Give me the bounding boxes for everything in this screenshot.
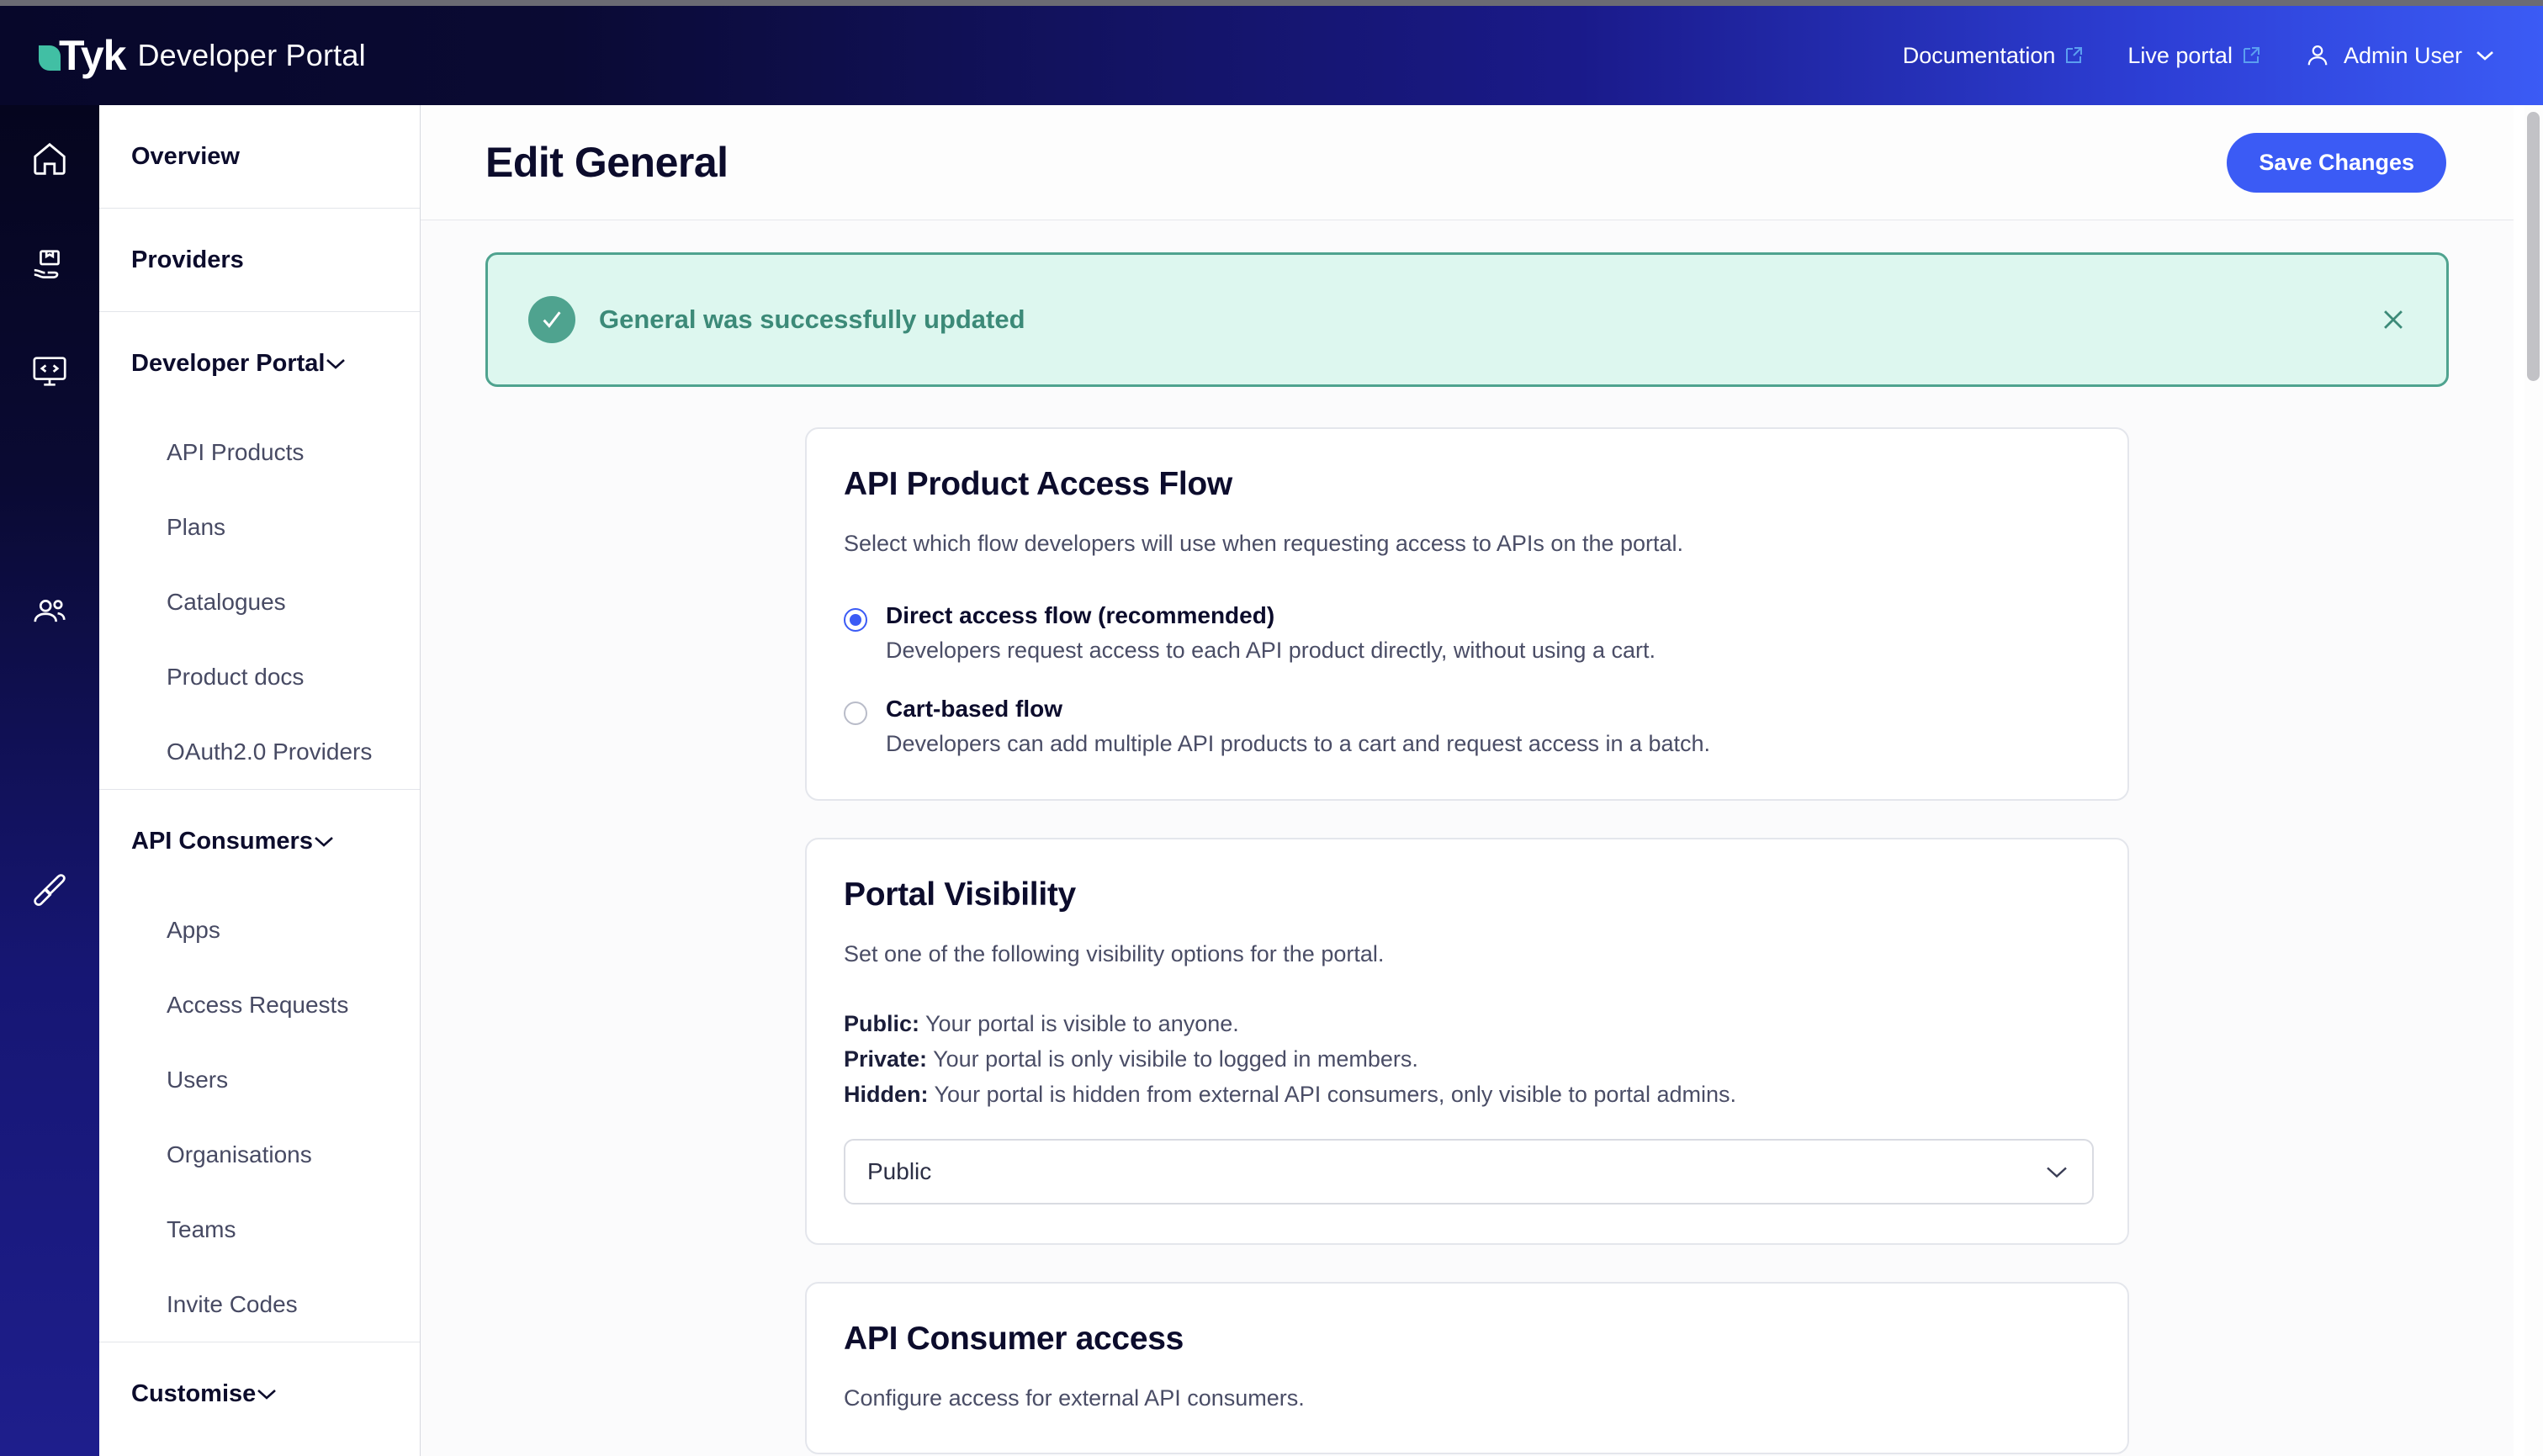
chevron-down-icon — [313, 834, 335, 848]
sidebar-nav: Overview Providers Developer Portal API … — [99, 105, 421, 1456]
sidebar-item-label: Plans — [167, 514, 225, 541]
sidebar-item-developer-portal[interactable]: Developer Portal — [99, 312, 420, 415]
visibility-line-hidden: Hidden: Your portal is hidden from exter… — [844, 1077, 2090, 1113]
documentation-label: Documentation — [1903, 43, 2056, 69]
sidebar-item-plans[interactable]: Plans — [99, 490, 420, 564]
portal-visibility-select[interactable]: Public — [844, 1139, 2094, 1205]
card-api-product-access-flow: API Product Access Flow Select which flo… — [805, 427, 2129, 801]
radio-help-text: Developers request access to each API pr… — [886, 638, 1656, 664]
vertical-scrollbar-track[interactable] — [2524, 105, 2543, 1456]
sidebar-item-users[interactable]: Users — [99, 1042, 420, 1117]
card-description: Set one of the following visibility opti… — [844, 939, 2090, 969]
radio-option-body: Direct access flow (recommended) Develop… — [886, 602, 1656, 664]
sidebar-item-product-docs[interactable]: Product docs — [99, 639, 420, 714]
sidebar-item-catalogues[interactable]: Catalogues — [99, 564, 420, 639]
check-circle-icon — [528, 296, 575, 343]
vertical-scrollbar-thumb[interactable] — [2527, 112, 2540, 381]
sidebar-item-label: Providers — [131, 246, 244, 274]
radio-option-cart-based-flow[interactable]: Cart-based flow Developers can add multi… — [844, 696, 2090, 757]
sidebar-item-customise[interactable]: Customise — [99, 1342, 420, 1445]
card-description: Select which flow developers will use wh… — [844, 528, 2090, 559]
sidebar-item-label: API Consumers — [131, 828, 313, 855]
sidebar-item-api-products[interactable]: API Products — [99, 415, 420, 490]
sidebar-item-invite-codes[interactable]: Invite Codes — [99, 1267, 420, 1342]
visibility-term-private: Private: — [844, 1046, 927, 1072]
main-content: Edit General Save Changes General was su… — [421, 105, 2514, 1456]
visibility-term-public: Public: — [844, 1011, 919, 1036]
chevron-down-icon — [325, 357, 347, 370]
portal-visibility-selected-value: Public — [867, 1158, 931, 1185]
visibility-text-hidden: Your portal is hidden from external API … — [929, 1082, 1737, 1107]
success-alert-message: General was successfully updated — [599, 304, 1025, 335]
sidebar-item-apps[interactable]: Apps — [99, 892, 420, 967]
radio-option-direct-access-flow[interactable]: Direct access flow (recommended) Develop… — [844, 602, 2090, 664]
nav-group-api-consumers: API Consumers Apps Access Requests Users… — [99, 790, 420, 1342]
sidebar-item-label: Catalogues — [167, 589, 286, 616]
sidebar-item-label: API Products — [167, 439, 304, 466]
tyk-wordmark: Tyk — [59, 34, 125, 77]
sidebar-item-label: Users — [167, 1067, 228, 1093]
external-link-icon — [2064, 45, 2084, 66]
radio-button-direct-access-flow[interactable] — [844, 608, 867, 632]
sidebar-item-api-consumers[interactable]: API Consumers — [99, 790, 420, 892]
radio-button-cart-based-flow[interactable] — [844, 702, 867, 725]
nav-group-developer-portal: Developer Portal API Products Plans Cata… — [99, 312, 420, 790]
live-portal-link[interactable]: Live portal — [2127, 43, 2261, 69]
browser-chrome-strip — [0, 0, 2543, 6]
card-title: Portal Visibility — [844, 876, 2090, 913]
app-header: Tyk Developer Portal Documentation Live … — [0, 6, 2543, 105]
documentation-link[interactable]: Documentation — [1903, 43, 2085, 69]
sidebar-item-themes[interactable]: Themes — [99, 1445, 420, 1456]
visibility-text-private: Your portal is only visibile to logged i… — [927, 1046, 1418, 1072]
sidebar-item-access-requests[interactable]: Access Requests — [99, 967, 420, 1042]
visibility-text-public: Your portal is visible to anyone. — [919, 1011, 1239, 1036]
visibility-line-private: Private: Your portal is only visibile to… — [844, 1042, 2090, 1077]
user-menu[interactable]: Admin User — [2305, 43, 2494, 69]
settings-cards: API Product Access Flow Select which flo… — [421, 387, 2514, 1454]
header-actions: Documentation Live portal Admin User — [1903, 43, 2494, 69]
sidebar-item-label: Teams — [167, 1216, 236, 1243]
sidebar-item-label: Customise — [131, 1380, 256, 1408]
radio-help-text: Developers can add multiple API products… — [886, 731, 1710, 757]
sidebar-item-label: Overview — [131, 143, 240, 171]
radio-option-body: Cart-based flow Developers can add multi… — [886, 696, 1710, 757]
sidebar-item-teams[interactable]: Teams — [99, 1192, 420, 1267]
chevron-down-icon — [256, 1387, 278, 1400]
package-hand-icon[interactable] — [0, 213, 99, 318]
visibility-line-public: Public: Your portal is visible to anyone… — [844, 1007, 2090, 1042]
person-icon — [2305, 43, 2330, 68]
nav-group-customise: Customise Themes — [99, 1342, 420, 1456]
brand-subtitle: Developer Portal — [137, 38, 365, 73]
page-title: Edit General — [485, 138, 728, 187]
brand-logo[interactable]: Tyk Developer Portal — [39, 34, 366, 77]
monitor-code-icon[interactable] — [0, 318, 99, 423]
sidebar-item-label: Developer Portal — [131, 350, 325, 378]
sidebar-item-providers[interactable]: Providers — [99, 209, 420, 311]
access-flow-radio-group: Direct access flow (recommended) Develop… — [844, 602, 2090, 757]
card-description: Configure access for external API consum… — [844, 1383, 2090, 1413]
visibility-term-hidden: Hidden: — [844, 1082, 929, 1107]
radio-label: Cart-based flow — [886, 696, 1710, 723]
card-api-consumer-access: API Consumer access Configure access for… — [805, 1282, 2129, 1453]
users-group-icon[interactable] — [0, 559, 99, 664]
paintbrush-icon[interactable] — [0, 837, 99, 942]
sidebar-item-label: Apps — [167, 917, 220, 944]
card-title: API Consumer access — [844, 1321, 2090, 1358]
radio-label: Direct access flow (recommended) — [886, 602, 1656, 629]
save-changes-button[interactable]: Save Changes — [2227, 133, 2446, 193]
sidebar-item-overview[interactable]: Overview — [99, 105, 420, 208]
card-portal-visibility: Portal Visibility Set one of the followi… — [805, 838, 2129, 1245]
sidebar-item-label: OAuth2.0 Providers — [167, 739, 372, 765]
sidebar-item-label: Invite Codes — [167, 1291, 298, 1318]
page-header: Edit General Save Changes — [421, 105, 2514, 220]
sidebar-item-label: Product docs — [167, 664, 304, 691]
live-portal-label: Live portal — [2127, 43, 2233, 69]
success-alert: General was successfully updated — [485, 252, 2449, 387]
card-title: API Product Access Flow — [844, 466, 2090, 503]
tyk-leaf-icon — [39, 45, 61, 71]
icon-rail — [0, 105, 99, 1456]
sidebar-item-label: Access Requests — [167, 992, 348, 1019]
sidebar-item-label: Organisations — [167, 1141, 312, 1168]
close-icon[interactable] — [2374, 300, 2413, 339]
home-icon[interactable] — [0, 105, 99, 213]
external-link-icon — [2241, 45, 2261, 66]
user-name-label: Admin User — [2344, 43, 2462, 69]
nav-group-overview: Overview — [99, 105, 420, 209]
tyk-logo: Tyk — [39, 34, 125, 77]
visibility-legend: Public: Your portal is visible to anyone… — [844, 1007, 2090, 1113]
nav-group-providers: Providers — [99, 209, 420, 312]
chevron-down-icon — [2476, 50, 2494, 61]
sidebar-item-oauth2-providers[interactable]: OAuth2.0 Providers — [99, 714, 420, 789]
sidebar-item-organisations[interactable]: Organisations — [99, 1117, 420, 1192]
